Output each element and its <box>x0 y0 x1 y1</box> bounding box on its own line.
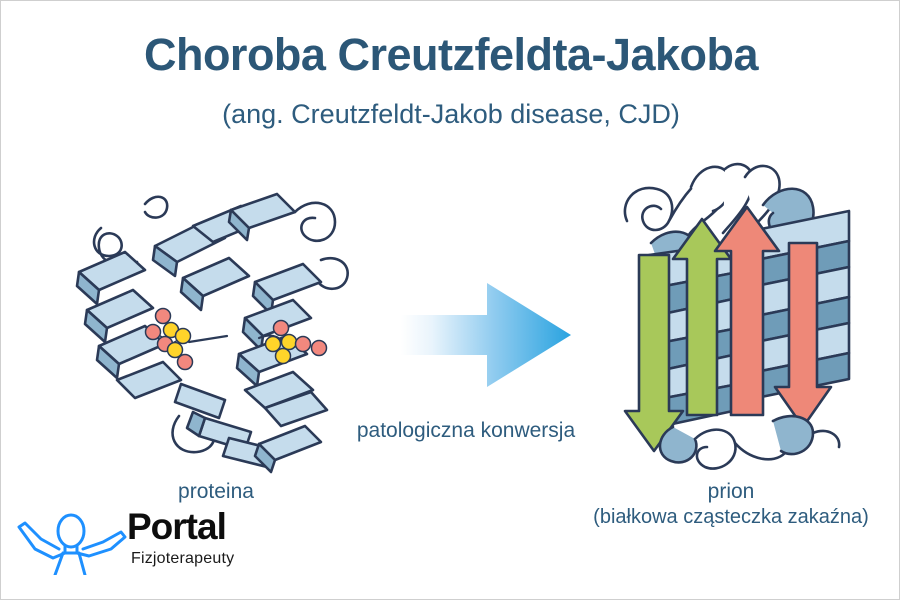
conversion-arrow <box>399 273 579 398</box>
protein-figure <box>59 186 369 481</box>
logo-name: Portal <box>127 506 226 548</box>
caption-protein: proteina <box>91 479 341 505</box>
person-arms-raised-icon <box>15 509 127 575</box>
prion-figure <box>613 159 898 479</box>
logo-wordmark: Portal Fizjoterapeuty <box>127 506 267 578</box>
beta-sheet-prion-ribbon-icon <box>613 159 898 479</box>
logo[interactable]: Portal Fizjoterapeuty <box>15 506 265 588</box>
caption-protein-text: proteina <box>178 480 254 503</box>
logo-tagline: Fizjoterapeuty <box>131 550 234 568</box>
page-subtitle: (ang. Creutzfeldt-Jakob disease, CJD) <box>1 99 900 130</box>
alpha-helix-protein-ribbon-icon <box>59 186 369 481</box>
poster-canvas: Choroba Creutzfeldta-Jakoba (ang. Creutz… <box>0 0 900 600</box>
conversion-label: patologiczna konwersja <box>331 419 601 443</box>
ligand-cluster-left <box>146 309 193 370</box>
caption-prion-subtext: (białkowa cząsteczka zakaźna) <box>561 505 900 529</box>
right-arrow-icon <box>399 273 579 398</box>
caption-prion-text: prion <box>708 480 755 503</box>
caption-prion: prion (białkowa cząsteczka zakaźna) <box>561 479 900 529</box>
page-title: Choroba Creutzfeldta-Jakoba <box>1 29 900 81</box>
